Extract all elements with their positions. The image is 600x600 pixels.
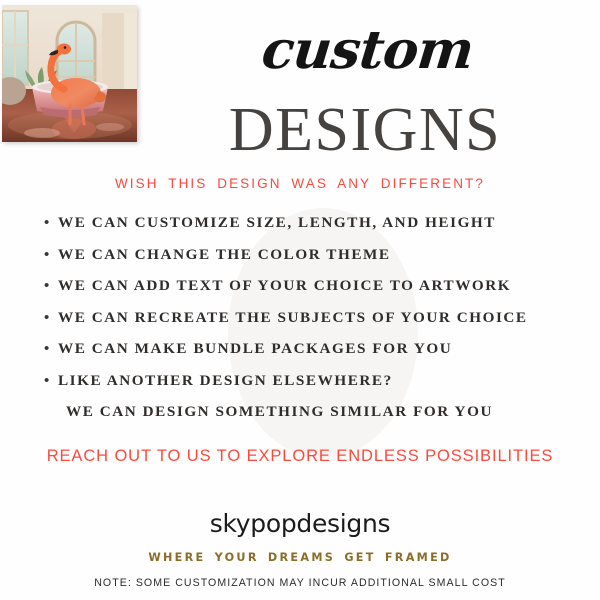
disclaimer-note: NOTE: SOME CUSTOMIZATION MAY INCUR ADDIT… <box>0 577 600 589</box>
brand-name: skypopdesigns <box>0 509 600 538</box>
list-item-label: WE CAN DESIGN SOMETHING SIMILAR FOR YOU <box>58 403 493 421</box>
list-item-label: WE CAN RECREATE THE SUBJECTS OF YOUR CHO… <box>58 309 528 327</box>
list-item: • WE CAN RECREATE THE SUBJECTS OF YOUR C… <box>44 309 584 341</box>
call-to-action-text: REACH OUT TO US TO EXPLORE ENDLESS POSSI… <box>0 447 600 466</box>
list-item-label: LIKE ANOTHER DESIGN ELSEWHERE? <box>58 372 393 390</box>
custom-designs-poster: custom DESIGNS WISH THIS DESIGN WAS ANY … <box>0 0 600 600</box>
serif-heading-designs: DESIGNS <box>0 99 600 161</box>
subtitle-question: WISH THIS DESIGN WAS ANY DIFFERENT? <box>0 176 600 191</box>
customization-options-list: • WE CAN CUSTOMIZE SIZE, LENGTH, AND HEI… <box>44 214 584 435</box>
bullet-dot-icon: • <box>44 310 58 325</box>
list-item-continuation: WE CAN DESIGN SOMETHING SIMILAR FOR YOU <box>44 403 584 435</box>
list-item: • WE CAN CHANGE THE COLOR THEME <box>44 246 584 278</box>
bullet-dot-icon: • <box>44 215 58 230</box>
bullet-dot-icon: • <box>44 341 58 356</box>
bullet-dot-icon: • <box>44 373 58 388</box>
list-item: • WE CAN MAKE BUNDLE PACKAGES FOR YOU <box>44 340 584 372</box>
list-item: • WE CAN CUSTOMIZE SIZE, LENGTH, AND HEI… <box>44 214 584 246</box>
bullet-dot-icon: • <box>44 247 58 262</box>
script-heading-custom: custom <box>0 24 600 77</box>
list-item: • WE CAN ADD TEXT OF YOUR CHOICE TO ARTW… <box>44 277 584 309</box>
list-item-label: WE CAN CUSTOMIZE SIZE, LENGTH, AND HEIGH… <box>58 214 496 232</box>
bullet-dot-icon: • <box>44 278 58 293</box>
list-item-label: WE CAN CHANGE THE COLOR THEME <box>58 246 391 264</box>
list-item-label: WE CAN ADD TEXT OF YOUR CHOICE TO ARTWOR… <box>58 277 511 295</box>
brand-tagline: WHERE YOUR DREAMS GET FRAMED <box>0 551 600 564</box>
list-item: • LIKE ANOTHER DESIGN ELSEWHERE? <box>44 372 584 404</box>
list-item-label: WE CAN MAKE BUNDLE PACKAGES FOR YOU <box>58 340 452 358</box>
